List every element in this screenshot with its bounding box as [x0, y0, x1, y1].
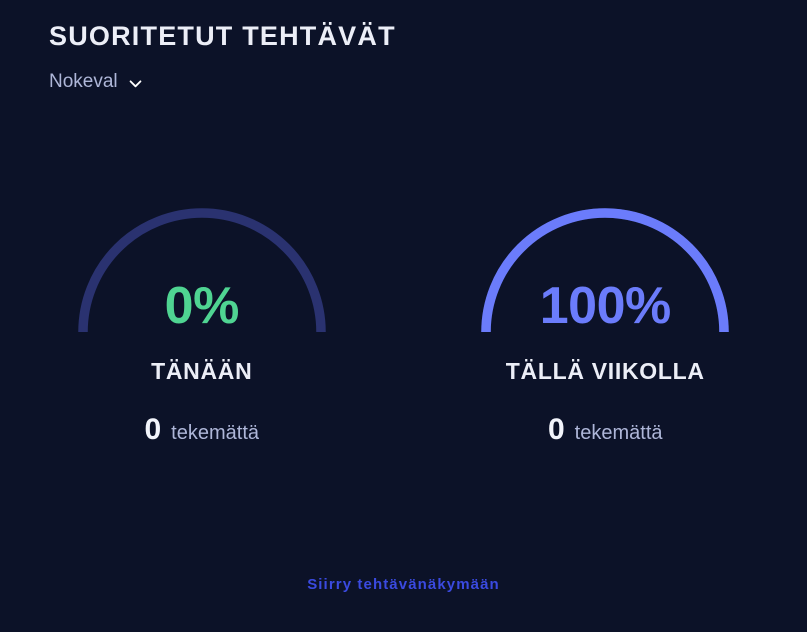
gauge-column-week: 100% TÄLLÄ VIIKOLLA 0 tekemättä — [404, 196, 807, 445]
gauge-week-label: TÄLLÄ VIIKOLLA — [506, 358, 705, 385]
remaining-week: 0 tekemättä — [548, 415, 663, 445]
organization-dropdown-label: Nokeval — [49, 72, 118, 91]
gauges-row: 0% TÄNÄÄN 0 tekemättä 100% TÄLLÄ VIIKOLL… — [0, 196, 807, 445]
remaining-week-text: tekemättä — [575, 423, 663, 443]
gauge-today-label: TÄNÄÄN — [151, 358, 252, 385]
organization-dropdown[interactable]: Nokeval — [49, 72, 144, 91]
page-title: SUORITETUT TEHTÄVÄT — [49, 22, 396, 52]
remaining-today: 0 tekemättä — [144, 415, 259, 445]
remaining-today-text: tekemättä — [171, 423, 259, 443]
gauge-week: 100% — [480, 196, 730, 336]
remaining-week-count: 0 — [548, 415, 565, 445]
gauge-column-today: 0% TÄNÄÄN 0 tekemättä — [0, 196, 404, 445]
go-to-task-view-link[interactable]: Siirry tehtävänäkymään — [307, 576, 500, 593]
gauge-today: 0% — [77, 196, 327, 336]
remaining-today-count: 0 — [144, 415, 161, 445]
gauge-week-value: 100% — [480, 280, 730, 332]
chevron-down-icon — [127, 75, 144, 92]
card-header: SUORITETUT TEHTÄVÄT Nokeval — [49, 22, 396, 92]
gauge-today-value: 0% — [77, 280, 327, 332]
completed-tasks-card: SUORITETUT TEHTÄVÄT Nokeval 0% TÄNÄÄN — [0, 0, 807, 632]
card-footer: Siirry tehtävänäkymään — [0, 576, 807, 594]
